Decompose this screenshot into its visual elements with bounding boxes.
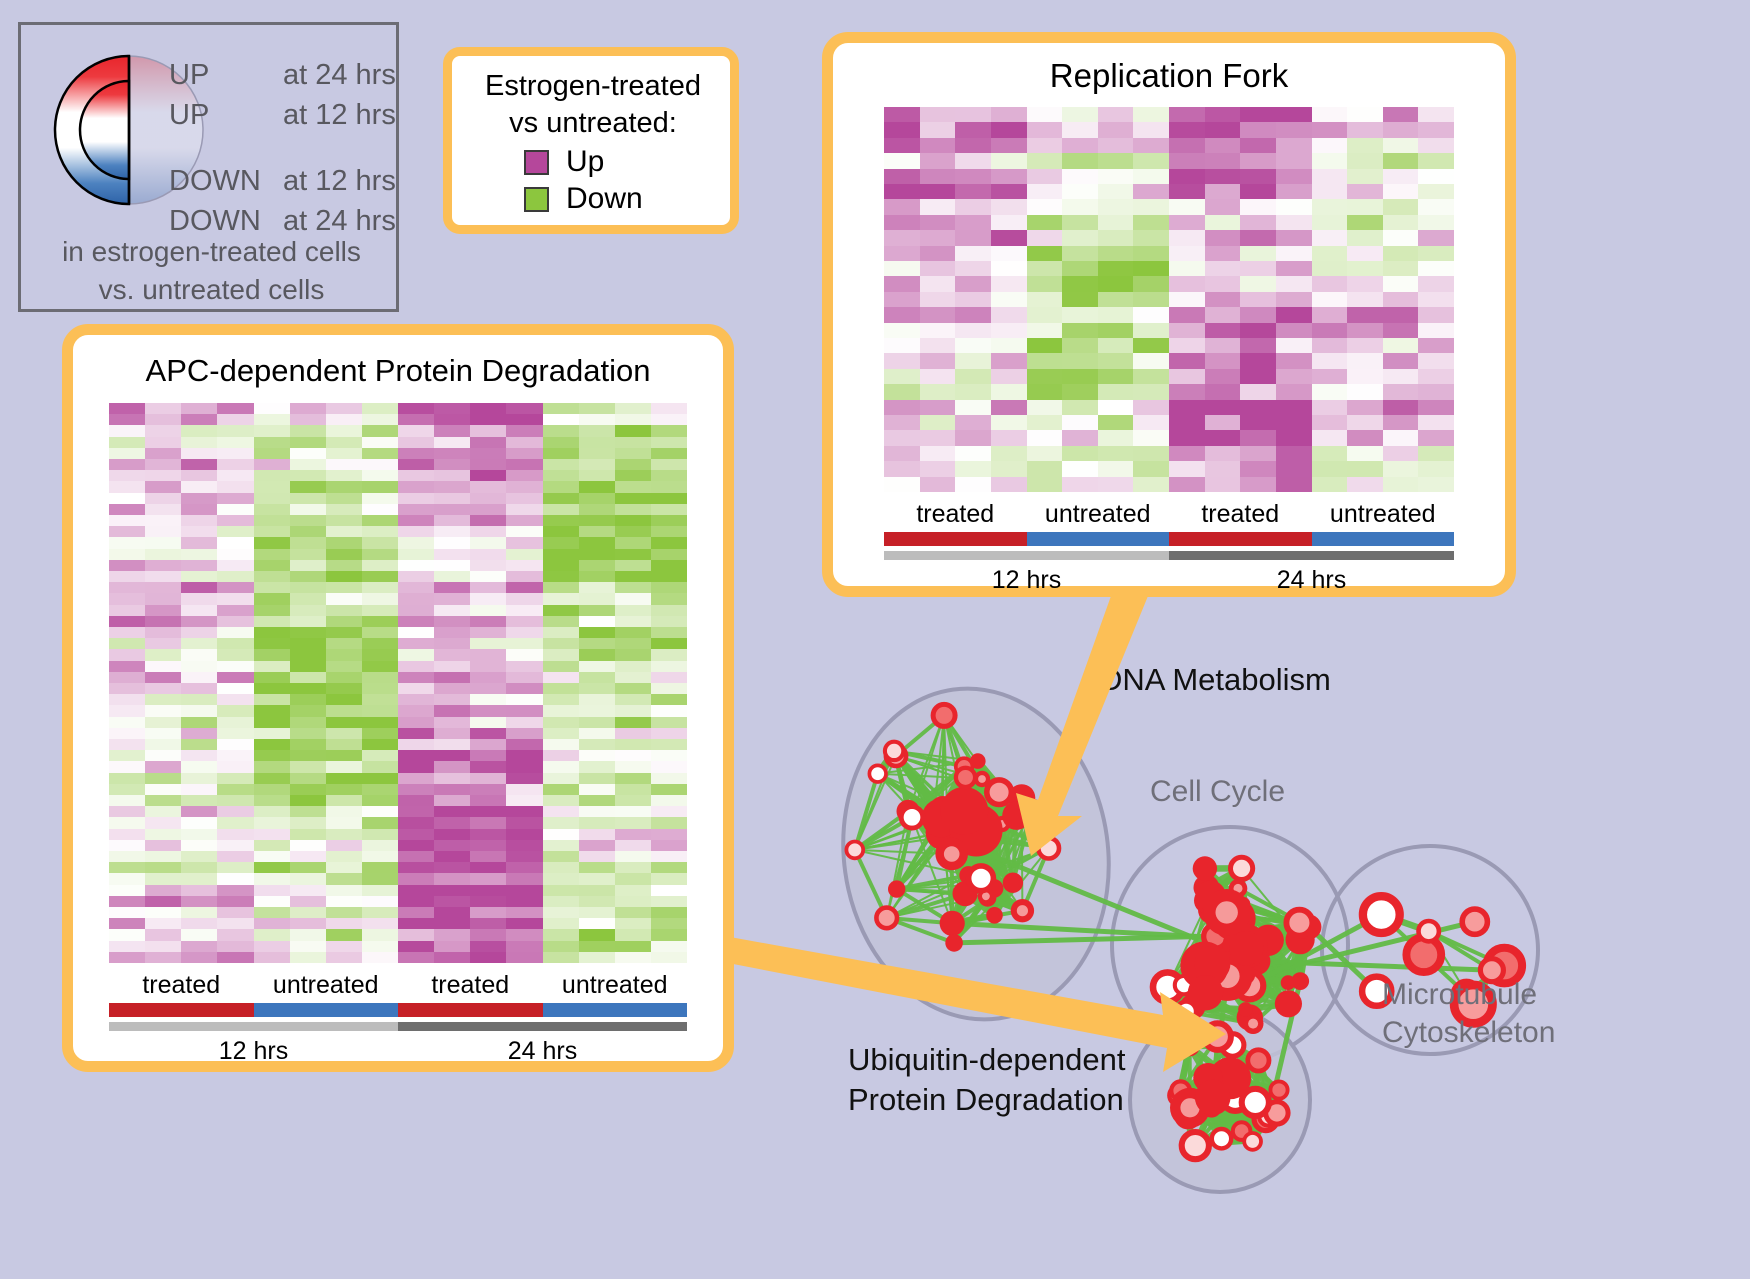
- heatmap-cell: [326, 425, 362, 436]
- heatmap-cell: [434, 504, 470, 515]
- heatmap-cell: [254, 481, 290, 492]
- heatmap-cell: [1240, 122, 1276, 137]
- heatmap-cell: [326, 795, 362, 806]
- heatmap-cell: [506, 784, 542, 795]
- heatmap-cell: [434, 739, 470, 750]
- heatmap-cell: [398, 862, 434, 873]
- network-node: [1270, 1081, 1287, 1098]
- heatmap-cell: [290, 717, 326, 728]
- heatmap-cell: [955, 122, 991, 137]
- heatmap-cell: [1062, 338, 1098, 353]
- heatmap-cell: [145, 717, 181, 728]
- heatmap-cell: [1418, 199, 1454, 214]
- heatmap-cell: [615, 437, 651, 448]
- heatmap-cell: [579, 773, 615, 784]
- heatmap-cell: [955, 169, 991, 184]
- network-node: [933, 704, 955, 726]
- network-node-inner: [1216, 901, 1238, 923]
- heatmap-cell: [651, 470, 687, 481]
- heatmap-cell: [651, 627, 687, 638]
- heatmap-cell: [217, 829, 253, 840]
- heatmap-cell: [181, 885, 217, 896]
- heatmap-cell: [1169, 261, 1205, 276]
- heatmap-cell: [1383, 307, 1419, 322]
- heatmap-cell: [434, 560, 470, 571]
- heatmap-cell: [109, 862, 145, 873]
- heatmap-cell: [290, 549, 326, 560]
- ring-key: UP: [169, 95, 283, 135]
- heatmap-cell: [326, 481, 362, 492]
- heatmap-cell: [651, 582, 687, 593]
- heatmap-cell: [470, 459, 506, 470]
- heatmap-cell: [470, 885, 506, 896]
- heatmap-cell: [506, 571, 542, 582]
- network-label-microtubule-cytoskeleton: Microtubule Cytoskeleton: [1382, 976, 1555, 1052]
- heatmap-cell: [615, 817, 651, 828]
- heatmap-cell: [470, 627, 506, 638]
- heatmap-cell: [615, 425, 651, 436]
- heatmap-cell: [1240, 415, 1276, 430]
- heatmap-cell: [1418, 338, 1454, 353]
- heatmap-cell: [109, 593, 145, 604]
- heatmap-cell: [1276, 307, 1312, 322]
- heatmap-cell: [470, 773, 506, 784]
- heatmap-cell: [109, 638, 145, 649]
- heatmap-cell: [1169, 184, 1205, 199]
- heatmap-cell: [579, 918, 615, 929]
- heatmap-cell: [1383, 430, 1419, 445]
- updown-legend-panel: Estrogen-treated vs untreated: Up Down: [443, 47, 739, 234]
- heatmap-cell: [506, 773, 542, 784]
- heatmap-cell: [1169, 153, 1205, 168]
- heatmap-cell: [1027, 138, 1063, 153]
- heatmap-cell: [470, 739, 506, 750]
- heatmap-cell: [991, 292, 1027, 307]
- heatmap-cell: [543, 817, 579, 828]
- heatmap-cell: [1347, 338, 1383, 353]
- heatmap-cell: [362, 705, 398, 716]
- heatmap-cell: [615, 851, 651, 862]
- heatmap-cell: [290, 493, 326, 504]
- heatmap-cell: [1062, 400, 1098, 415]
- heatmap-cell: [1240, 261, 1276, 276]
- heatmap-cell: [955, 230, 991, 245]
- heatmap-cell: [145, 929, 181, 940]
- heatmap-cell: [1133, 230, 1169, 245]
- heatmap-cell: [181, 672, 217, 683]
- heatmap-cell: [1205, 353, 1241, 368]
- heatmap-cell: [579, 885, 615, 896]
- heatmap-cell: [1169, 276, 1205, 291]
- heatmap-cell: [1169, 307, 1205, 322]
- heatmap-cell: [362, 616, 398, 627]
- heatmap-cell: [506, 504, 542, 515]
- heatmap-cell: [326, 437, 362, 448]
- heatmap-cell: [1205, 138, 1241, 153]
- heatmap-cell: [470, 638, 506, 649]
- heatmap-cell: [470, 795, 506, 806]
- heatmap-cell: [991, 122, 1027, 137]
- heatmap-cell: [434, 459, 470, 470]
- heatmap-cell: [145, 414, 181, 425]
- heatmap-cell: [1169, 415, 1205, 430]
- heatmap-cell: [991, 477, 1027, 492]
- heatmap-cell: [434, 414, 470, 425]
- heatmap-cell: [326, 549, 362, 560]
- heatmap-cell: [290, 526, 326, 537]
- heatmap-cell: [254, 403, 290, 414]
- heatmap-cell: [991, 276, 1027, 291]
- heatmap-cell: [1383, 122, 1419, 137]
- heatmap-cell: [1098, 230, 1134, 245]
- heatmap-cell: [1027, 369, 1063, 384]
- heatmap-cell: [615, 649, 651, 660]
- heatmap-cell: [109, 560, 145, 571]
- heatmap-cell: [109, 873, 145, 884]
- heatmap-cell: [217, 873, 253, 884]
- heatmap-cell: [1383, 138, 1419, 153]
- heatmap-cell: [326, 661, 362, 672]
- heatmap-cell: [543, 739, 579, 750]
- heatmap-cell: [290, 481, 326, 492]
- heatmap-cell: [145, 862, 181, 873]
- heatmap-cell: [145, 481, 181, 492]
- heatmap-cell: [1205, 230, 1241, 245]
- heatmap-cell: [181, 795, 217, 806]
- heatmap-cell: [1098, 215, 1134, 230]
- heatmap-cell: [1418, 153, 1454, 168]
- heatmap-cell: [579, 437, 615, 448]
- heatmap-cell: [1098, 353, 1134, 368]
- heatmap-cell: [290, 694, 326, 705]
- heatmap-cell: [506, 425, 542, 436]
- heatmap-cell: [470, 761, 506, 772]
- ring-time: at 12 hrs: [283, 161, 396, 201]
- heatmap-cell: [579, 896, 615, 907]
- heatmap-cell: [362, 873, 398, 884]
- heatmap-cell: [398, 605, 434, 616]
- heatmap-cell: [181, 873, 217, 884]
- heatmap-cell: [579, 537, 615, 548]
- heatmap-cell: [1133, 307, 1169, 322]
- treatment-bar: [398, 1003, 543, 1017]
- heatmap-cell: [362, 717, 398, 728]
- heatmap-cell: [615, 885, 651, 896]
- heatmap-cell: [254, 728, 290, 739]
- heatmap-cell: [506, 526, 542, 537]
- heatmap-cell: [434, 403, 470, 414]
- heatmap-cell: [991, 230, 1027, 245]
- heatmap-cell: [109, 437, 145, 448]
- heatmap-cell: [145, 761, 181, 772]
- heatmap-cell: [1347, 430, 1383, 445]
- heatmap-cell: [398, 414, 434, 425]
- heatmap-cell: [326, 515, 362, 526]
- heatmap-cell: [543, 616, 579, 627]
- network-node: [1419, 921, 1439, 941]
- heatmap-cell: [290, 593, 326, 604]
- heatmap-cell: [506, 672, 542, 683]
- heatmap-cell: [1133, 446, 1169, 461]
- heatmap-cell: [398, 817, 434, 828]
- network-node-inner: [1248, 1019, 1258, 1029]
- heatmap-cell: [254, 761, 290, 772]
- heatmap-cell: [145, 672, 181, 683]
- heatmap-cell: [362, 448, 398, 459]
- heatmap-cell: [651, 941, 687, 952]
- heatmap-cell: [1276, 199, 1312, 214]
- heatmap-cell: [326, 896, 362, 907]
- heatmap-cell: [326, 873, 362, 884]
- heatmap-cell: [1133, 107, 1169, 122]
- heatmap-cell: [181, 504, 217, 515]
- heatmap-cell: [1312, 230, 1348, 245]
- heatmap-cell: [1276, 122, 1312, 137]
- heatmap-cell: [1383, 477, 1419, 492]
- heatmap-cell: [615, 840, 651, 851]
- heatmap-cell: [579, 560, 615, 571]
- heatmap-cell: [1347, 307, 1383, 322]
- heatmap-cell: [651, 605, 687, 616]
- heatmap-cell: [991, 215, 1027, 230]
- heatmap-cell: [217, 504, 253, 515]
- heatmap-cell: [362, 851, 398, 862]
- heatmap-cell: [109, 896, 145, 907]
- heatmap-cell: [543, 873, 579, 884]
- heatmap-cell: [955, 246, 991, 261]
- heatmap-cell: [615, 873, 651, 884]
- heatmap-cell: [290, 515, 326, 526]
- heatmap-cell: [1312, 261, 1348, 276]
- heatmap-cell: [362, 627, 398, 638]
- heatmap-cell: [1418, 461, 1454, 476]
- heatmap-cell: [1133, 430, 1169, 445]
- heatmap-cell: [1169, 169, 1205, 184]
- heatmap-cell: [1098, 276, 1134, 291]
- heatmap-cell: [217, 661, 253, 672]
- heatmap-cell: [362, 941, 398, 952]
- heatmap-cell: [991, 338, 1027, 353]
- heatmap-cell: [362, 425, 398, 436]
- heatmap-cell: [651, 817, 687, 828]
- heatmap-cell: [1133, 153, 1169, 168]
- heatmap-cell: [506, 515, 542, 526]
- heatmap-cell: [506, 638, 542, 649]
- heatmap-cell: [955, 461, 991, 476]
- heatmap-cell: [254, 694, 290, 705]
- heatmap-cell: [1205, 276, 1241, 291]
- heatmap-cell: [615, 549, 651, 560]
- heatmap-cell: [109, 761, 145, 772]
- heatmap-cell: [1169, 353, 1205, 368]
- network-node-inner: [978, 775, 986, 783]
- heatmap-cell: [254, 750, 290, 761]
- heatmap-cell: [579, 425, 615, 436]
- heatmap-cell: [1062, 169, 1098, 184]
- heatmap-cell: [1418, 107, 1454, 122]
- heatmap-cell: [398, 560, 434, 571]
- heatmap-cell: [506, 795, 542, 806]
- heatmap-cell: [920, 215, 956, 230]
- heatmap-cell: [543, 571, 579, 582]
- replication-fork-heatmap: [884, 107, 1454, 492]
- heatmap-cell: [615, 773, 651, 784]
- network-node: [1462, 909, 1487, 934]
- heatmap-cell: [1312, 292, 1348, 307]
- heatmap-cell: [398, 761, 434, 772]
- heatmap-cell: [1312, 477, 1348, 492]
- heatmap-cell: [398, 952, 434, 963]
- heatmap-cell: [217, 605, 253, 616]
- heatmap-cell: [1133, 292, 1169, 307]
- heatmap-cell: [1098, 122, 1134, 137]
- heatmap-cell: [920, 400, 956, 415]
- heatmap-cell: [326, 717, 362, 728]
- heatmap-cell: [254, 425, 290, 436]
- heatmap-cell: [884, 138, 920, 153]
- heatmap-cell: [254, 952, 290, 963]
- heatmap-cell: [579, 504, 615, 515]
- heatmap-cell: [651, 918, 687, 929]
- heatmap-cell: [920, 230, 956, 245]
- heatmap-cell: [254, 526, 290, 537]
- heatmap-cell: [579, 649, 615, 660]
- heatmap-cell: [1169, 430, 1205, 445]
- heatmap-cell: [109, 403, 145, 414]
- heatmap-cell: [254, 616, 290, 627]
- heatmap-cell: [145, 425, 181, 436]
- heatmap-cell: [579, 582, 615, 593]
- ring-caption-line-2: vs. untreated cells: [21, 271, 402, 309]
- heatmap-cell: [434, 907, 470, 918]
- heatmap-cell: [145, 705, 181, 716]
- heatmap-cell: [615, 761, 651, 772]
- heatmap-cell: [217, 918, 253, 929]
- heatmap-cell: [326, 403, 362, 414]
- heatmap-cell: [1205, 292, 1241, 307]
- heatmap-cell: [920, 122, 956, 137]
- heatmap-cell: [434, 649, 470, 660]
- heatmap-cell: [109, 705, 145, 716]
- heatmap-cell: [1240, 230, 1276, 245]
- heatmap-cell: [1098, 169, 1134, 184]
- heatmap-cell: [543, 784, 579, 795]
- heatmap-cell: [1383, 246, 1419, 261]
- heatmap-cell: [109, 504, 145, 515]
- heatmap-cell: [1418, 353, 1454, 368]
- heatmap-cell: [1312, 276, 1348, 291]
- heatmap-cell: [181, 907, 217, 918]
- legend-item-up: Up: [466, 145, 720, 179]
- heatmap-cell: [181, 918, 217, 929]
- heatmap-cell: [470, 649, 506, 660]
- heatmap-cell: [506, 448, 542, 459]
- heatmap-cell: [181, 571, 217, 582]
- heatmap-cell: [434, 750, 470, 761]
- heatmap-cell: [1347, 184, 1383, 199]
- heatmap-cell: [651, 459, 687, 470]
- heatmap-cell: [884, 107, 920, 122]
- heatmap-cell: [543, 560, 579, 571]
- heatmap-cell: [651, 593, 687, 604]
- heatmap-cell: [109, 414, 145, 425]
- heatmap-cell: [1276, 107, 1312, 122]
- heatmap-cell: [1133, 338, 1169, 353]
- heatmap-cell: [506, 829, 542, 840]
- treatment-label: untreated: [1027, 500, 1170, 529]
- heatmap-cell: [579, 549, 615, 560]
- heatmap-cell: [1240, 477, 1276, 492]
- ring-caption-line-1: in estrogen-treated cells: [21, 233, 402, 271]
- updown-legend-title-line-2: vs untreated:: [466, 105, 720, 142]
- heatmap-cell: [615, 560, 651, 571]
- heatmap-cell: [145, 627, 181, 638]
- heatmap-cell: [326, 952, 362, 963]
- heatmap-cell: [326, 929, 362, 940]
- heatmap-cell: [326, 773, 362, 784]
- heatmap-cell: [651, 672, 687, 683]
- heatmap-cell: [543, 773, 579, 784]
- heatmap-cell: [109, 728, 145, 739]
- heatmap-cell: [326, 840, 362, 851]
- network-node: [869, 765, 886, 782]
- heatmap-cell: [991, 153, 1027, 168]
- network-node: [1238, 1002, 1253, 1017]
- heatmap-cell: [1276, 461, 1312, 476]
- heatmap-cell: [1276, 323, 1312, 338]
- heatmap-cell: [1062, 199, 1098, 214]
- heatmap-cell: [217, 761, 253, 772]
- heatmap-cell: [615, 459, 651, 470]
- heatmap-cell: [1133, 400, 1169, 415]
- heatmap-cell: [1312, 307, 1348, 322]
- network-label-dna-metabolism: DNA Metabolism: [1100, 662, 1331, 698]
- heatmap-cell: [651, 414, 687, 425]
- heatmap-cell: [398, 493, 434, 504]
- heatmap-cell: [615, 694, 651, 705]
- heatmap-cell: [1062, 353, 1098, 368]
- heatmap-cell: [434, 840, 470, 851]
- heatmap-cell: [1062, 261, 1098, 276]
- heatmap-cell: [1276, 169, 1312, 184]
- heatmap-cell: [1027, 323, 1063, 338]
- heatmap-cell: [181, 817, 217, 828]
- heatmap-cell: [579, 717, 615, 728]
- heatmap-cell: [109, 840, 145, 851]
- heatmap-cell: [434, 885, 470, 896]
- heatmap-cell: [181, 705, 217, 716]
- heatmap-cell: [217, 638, 253, 649]
- heatmap-cell: [290, 829, 326, 840]
- heatmap-cell: [1027, 446, 1063, 461]
- heatmap-cell: [362, 493, 398, 504]
- heatmap-cell: [290, 672, 326, 683]
- heatmap-cell: [651, 403, 687, 414]
- treatment-bar: [1312, 532, 1455, 546]
- heatmap-cell: [470, 403, 506, 414]
- heatmap-cell: [579, 493, 615, 504]
- heatmap-cell: [991, 369, 1027, 384]
- heatmap-cell: [651, 773, 687, 784]
- heatmap-cell: [1205, 446, 1241, 461]
- heatmap-cell: [884, 153, 920, 168]
- heatmap-cell: [1205, 400, 1241, 415]
- heatmap-cell: [254, 582, 290, 593]
- heatmap-cell: [920, 338, 956, 353]
- heatmap-cell: [1169, 323, 1205, 338]
- heatmap-cell: [145, 873, 181, 884]
- heatmap-cell: [1383, 276, 1419, 291]
